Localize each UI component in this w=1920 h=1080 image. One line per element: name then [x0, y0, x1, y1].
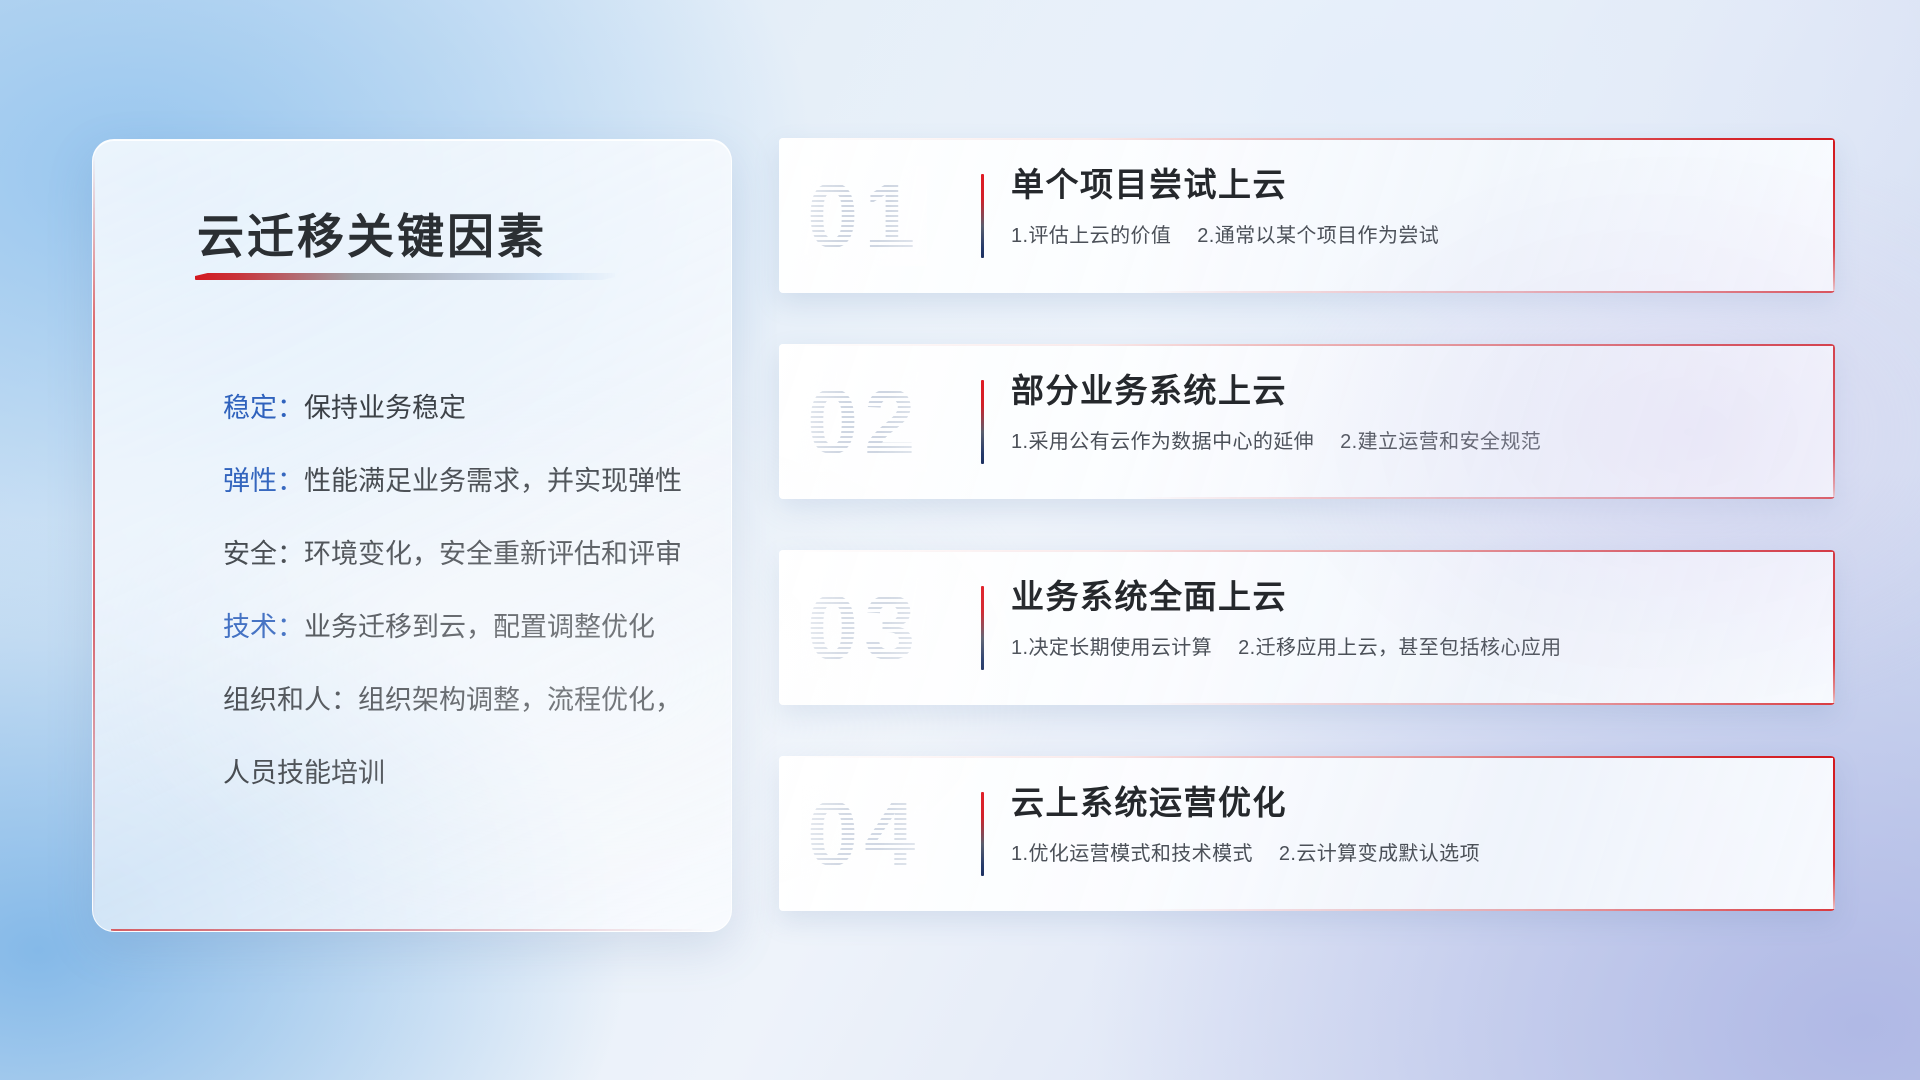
step-description: 1.优化运营模式和技术模式2.云计算变成默认选项: [1011, 837, 1795, 866]
step-card-02[interactable]: 02 部分业务系统上云 1.采用公有云作为数据中心的延伸2.建立运营和安全规范: [779, 344, 1835, 499]
factor-list: 稳定：保持业务稳定 弹性：性能满足业务需求，并实现弹性 安全：环境变化，安全重新…: [93, 372, 731, 810]
step-title: 业务系统全面上云: [1011, 578, 1795, 617]
card-right-accent-line: [1833, 344, 1835, 499]
step-point: 1.采用公有云作为数据中心的延伸: [1011, 431, 1314, 453]
card-top-accent-line: [779, 344, 1835, 346]
factor-row: 稳定：保持业务稳定: [223, 372, 683, 445]
step-point: 2.通常以某个项目作为尝试: [1197, 225, 1439, 247]
title-underline-gradient: [195, 273, 615, 280]
step-point: 1.决定长期使用云计算: [1011, 637, 1212, 659]
step-card-body: 部分业务系统上云 1.采用公有云作为数据中心的延伸2.建立运营和安全规范: [1011, 372, 1795, 477]
card-bottom-accent-line: [1138, 703, 1835, 705]
step-title: 单个项目尝试上云: [1011, 166, 1795, 205]
step-point: 1.评估上云的价值: [1011, 225, 1171, 247]
factor-row: 安全：环境变化，安全重新评估和评审: [223, 518, 683, 591]
step-title: 云上系统运营优化: [1011, 784, 1795, 823]
factor-text: 业务迁移到云，配置调整优化: [304, 612, 655, 642]
step-divider-bar: [981, 380, 984, 464]
step-number-ghost: 04: [807, 788, 921, 880]
step-divider-bar: [981, 792, 984, 876]
step-number-ghost: 02: [807, 376, 921, 468]
factor-row: 技术：业务迁移到云，配置调整优化: [223, 591, 683, 664]
card-top-accent-line: [779, 550, 1835, 552]
step-card-04[interactable]: 04 云上系统运营优化 1.优化运营模式和技术模式2.云计算变成默认选项: [779, 756, 1835, 911]
panel-bottom-accent-edge: [111, 929, 707, 931]
step-card-01[interactable]: 01 单个项目尝试上云 1.评估上云的价值2.通常以某个项目作为尝试: [779, 138, 1835, 293]
step-title: 部分业务系统上云: [1011, 372, 1795, 411]
factor-row: 弹性：性能满足业务需求，并实现弹性: [223, 445, 683, 518]
card-bottom-accent-line: [1138, 291, 1835, 293]
step-point: 1.优化运营模式和技术模式: [1011, 843, 1253, 865]
card-right-accent-line: [1833, 550, 1835, 705]
card-right-accent-line: [1833, 756, 1835, 911]
step-card-03[interactable]: 03 业务系统全面上云 1.决定长期使用云计算2.迁移应用上云，甚至包括核心应用: [779, 550, 1835, 705]
card-top-accent-line: [779, 138, 1835, 140]
migration-steps-list: 01 单个项目尝试上云 1.评估上云的价值2.通常以某个项目作为尝试 02 部分…: [779, 138, 1835, 911]
step-point: 2.建立运营和安全规范: [1340, 431, 1541, 453]
card-right-accent-line: [1833, 138, 1835, 293]
factor-row: 组织和人：组织架构调整，流程优化，人员技能培训: [223, 664, 683, 810]
card-bottom-accent-line: [1138, 497, 1835, 499]
factor-text: 环境变化，安全重新评估和评审: [304, 539, 682, 569]
step-card-body: 云上系统运营优化 1.优化运营模式和技术模式2.云计算变成默认选项: [1011, 784, 1795, 889]
factor-label: 弹性：: [223, 466, 304, 496]
factor-text: 性能满足业务需求，并实现弹性: [304, 466, 682, 496]
step-point: 2.迁移应用上云，甚至包括核心应用: [1238, 637, 1561, 659]
key-factors-panel: 云迁移关键因素 稳定：保持业务稳定 弹性：性能满足业务需求，并实现弹性 安全：环…: [92, 139, 732, 932]
step-point: 2.云计算变成默认选项: [1279, 843, 1480, 865]
factor-label: 安全：: [223, 539, 304, 569]
step-description: 1.决定长期使用云计算2.迁移应用上云，甚至包括核心应用: [1011, 631, 1795, 660]
step-number-ghost: 03: [807, 582, 921, 674]
factor-text: 保持业务稳定: [304, 393, 466, 423]
step-divider-bar: [981, 174, 984, 258]
step-description: 1.采用公有云作为数据中心的延伸2.建立运营和安全规范: [1011, 425, 1795, 454]
step-description: 1.评估上云的价值2.通常以某个项目作为尝试: [1011, 219, 1795, 248]
step-card-body: 单个项目尝试上云 1.评估上云的价值2.通常以某个项目作为尝试: [1011, 166, 1795, 271]
step-number-ghost: 01: [807, 170, 921, 262]
factor-label: 稳定：: [223, 393, 304, 423]
page-title: 云迁移关键因素: [197, 198, 547, 267]
step-divider-bar: [981, 586, 984, 670]
factor-label: 技术：: [223, 612, 304, 642]
slide-canvas: 云迁移关键因素 稳定：保持业务稳定 弹性：性能满足业务需求，并实现弹性 安全：环…: [0, 0, 1920, 1080]
card-bottom-accent-line: [1138, 909, 1835, 911]
card-top-accent-line: [779, 756, 1835, 758]
factor-label: 组织和人：: [223, 685, 358, 715]
step-card-body: 业务系统全面上云 1.决定长期使用云计算2.迁移应用上云，甚至包括核心应用: [1011, 578, 1795, 683]
